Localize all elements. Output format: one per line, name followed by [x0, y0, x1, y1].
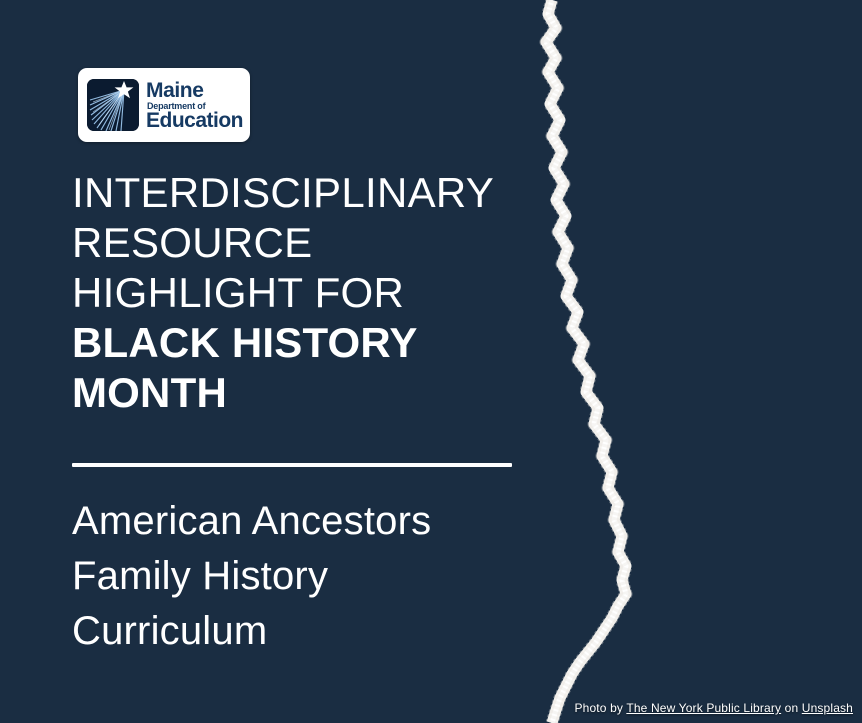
- headline-line-4: BLACK HISTORY: [72, 318, 522, 368]
- headline-line-3: HIGHLIGHT FOR: [72, 268, 522, 318]
- photo-credit-platform-link[interactable]: Unsplash: [802, 701, 853, 715]
- headline-line-5: MONTH: [72, 368, 522, 418]
- resource-subtitle: American Ancestors Family History Curric…: [72, 494, 532, 659]
- maine-doe-logo[interactable]: Maine Department of Education: [78, 68, 250, 142]
- subtitle-line-2: Family History: [72, 549, 532, 604]
- photo-credit-middle: on: [781, 701, 802, 715]
- poster-content: Maine Department of Education INTERDISCI…: [0, 0, 530, 723]
- page-title: INTERDISCIPLINARY RESOURCE HIGHLIGHT FOR…: [72, 168, 522, 418]
- subtitle-line-3: Curriculum: [72, 604, 532, 659]
- photo-credit-prefix: Photo by: [575, 701, 627, 715]
- poster-canvas: 1937 FEBRUARY 1 2 3 4 5 6 7 8 9 10 11 12…: [0, 0, 862, 723]
- headline-line-2: RESOURCE: [72, 218, 522, 268]
- logo-wordmark: Maine Department of Education: [146, 80, 243, 131]
- headline-line-1: INTERDISCIPLINARY: [72, 168, 522, 218]
- starburst-star-icon: [87, 79, 139, 131]
- photo-credit: Photo by The New York Public Library on …: [575, 701, 854, 715]
- logo-line-education: Education: [146, 110, 243, 131]
- logo-line-maine: Maine: [146, 80, 243, 101]
- photo-credit-source-link[interactable]: The New York Public Library: [626, 701, 781, 715]
- subtitle-line-1: American Ancestors: [72, 494, 532, 549]
- divider-rule: [72, 463, 512, 467]
